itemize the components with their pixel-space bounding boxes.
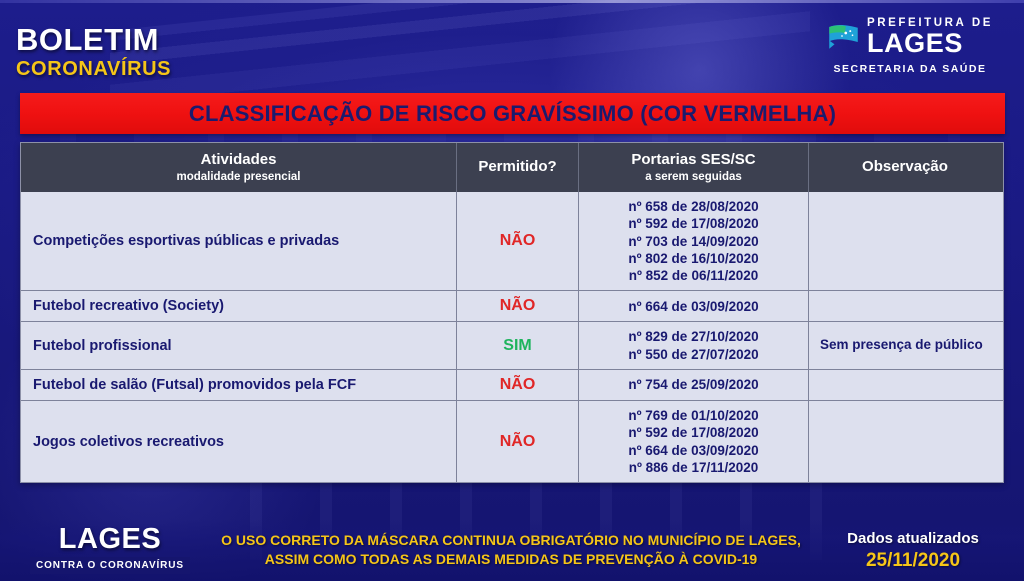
portaria-item: nº 592 de 17/08/2020 xyxy=(579,215,808,232)
atividade-label: Futebol de salão (Futsal) promovidos pel… xyxy=(21,377,456,393)
table-row: Futebol profissionalSIMnº 829 de 27/10/2… xyxy=(21,321,1003,369)
cell-portarias: nº 658 de 28/08/2020nº 592 de 17/08/2020… xyxy=(579,192,809,290)
cell-portarias: nº 829 de 27/10/2020nº 550 de 27/07/2020 xyxy=(579,322,809,369)
cell-portarias: nº 769 de 01/10/2020nº 592 de 17/08/2020… xyxy=(579,401,809,482)
portaria-item: nº 802 de 16/10/2020 xyxy=(579,250,808,267)
atividade-label: Jogos coletivos recreativos xyxy=(21,434,456,450)
cell-atividade: Competições esportivas públicas e privad… xyxy=(21,192,457,290)
logo-line-secretaria: SECRETARIA DA SAÚDE xyxy=(810,63,1010,75)
column-header-observacao-main: Observação xyxy=(813,159,997,176)
portaria-item: nº 829 de 27/10/2020 xyxy=(579,328,808,345)
portarias-list: nº 769 de 01/10/2020nº 592 de 17/08/2020… xyxy=(579,407,808,476)
cell-atividade: Futebol de salão (Futsal) promovidos pel… xyxy=(21,370,457,400)
table-row: Futebol de salão (Futsal) promovidos pel… xyxy=(21,369,1003,400)
portaria-item: nº 664 de 03/09/2020 xyxy=(579,298,808,315)
page-title: BOLETIM xyxy=(16,24,171,55)
permitido-value: NÃO xyxy=(457,433,578,451)
banner-title: CLASSIFICAÇÃO DE RISCO GRAVÍSSIMO (COR V… xyxy=(189,101,836,127)
table-row: Competições esportivas públicas e privad… xyxy=(21,192,1003,290)
portarias-list: nº 754 de 25/09/2020 xyxy=(579,376,808,393)
risk-classification-banner: CLASSIFICAÇÃO DE RISCO GRAVÍSSIMO (COR V… xyxy=(20,93,1005,134)
page-subtitle: CORONAVÍRUS xyxy=(16,59,171,79)
bulletin-title-block: BOLETIM CORONAVÍRUS xyxy=(16,24,171,79)
table-body: Competições esportivas públicas e privad… xyxy=(21,192,1003,482)
column-header-portarias-main: Portarias SES/SC xyxy=(583,152,804,169)
cell-atividade: Futebol recreativo (Society) xyxy=(21,291,457,321)
column-header-permitido-main: Permitido? xyxy=(461,159,574,176)
cell-permitido: NÃO xyxy=(457,192,579,290)
cell-portarias: nº 664 de 03/09/2020 xyxy=(579,291,809,321)
cell-observacao xyxy=(809,370,1001,400)
footer-brand: LAGES CONTRA O CORONAVÍRUS xyxy=(30,525,190,574)
column-header-permitido: Permitido? xyxy=(457,143,579,192)
page-footer: LAGES CONTRA O CORONAVÍRUS O USO CORRETO… xyxy=(0,519,1024,581)
portaria-item: nº 658 de 28/08/2020 xyxy=(579,198,808,215)
table-header-row: Atividades modalidade presencial Permiti… xyxy=(21,143,1003,192)
column-header-portarias-sub: a serem seguidas xyxy=(583,171,804,184)
footer-message-line-1: O USO CORRETO DA MÁSCARA CONTINUA OBRIGA… xyxy=(186,531,836,550)
footer-brand-main: LAGES xyxy=(30,525,190,554)
cell-portarias: nº 754 de 25/09/2020 xyxy=(579,370,809,400)
column-header-portarias: Portarias SES/SC a serem seguidas xyxy=(579,143,809,192)
footer-updated-label: Dados atualizados xyxy=(818,531,1008,548)
atividade-label: Futebol profissional xyxy=(21,338,456,354)
portaria-item: nº 769 de 01/10/2020 xyxy=(579,407,808,424)
permitido-value: NÃO xyxy=(457,297,578,315)
cell-observacao xyxy=(809,192,1001,290)
atividade-label: Futebol recreativo (Society) xyxy=(21,298,456,314)
portarias-list: nº 658 de 28/08/2020nº 592 de 17/08/2020… xyxy=(579,198,808,284)
atividade-label: Competições esportivas públicas e privad… xyxy=(21,233,456,249)
table-row: Futebol recreativo (Society)NÃOnº 664 de… xyxy=(21,290,1003,321)
portaria-item: nº 754 de 25/09/2020 xyxy=(579,376,808,393)
portarias-list: nº 664 de 03/09/2020 xyxy=(579,298,808,315)
cell-permitido: NÃO xyxy=(457,291,579,321)
footer-mask-message: O USO CORRETO DA MÁSCARA CONTINUA OBRIGA… xyxy=(186,531,836,569)
portaria-item: nº 664 de 03/09/2020 xyxy=(579,442,808,459)
column-header-observacao: Observação xyxy=(809,143,1001,192)
activities-table: Atividades modalidade presencial Permiti… xyxy=(20,142,1004,483)
logo-line-lages: LAGES xyxy=(867,31,963,57)
column-header-atividades: Atividades modalidade presencial xyxy=(21,143,457,192)
permitido-value: NÃO xyxy=(457,376,578,394)
cell-permitido: SIM xyxy=(457,322,579,369)
footer-message-line-2: ASSIM COMO TODAS AS DEMAIS MEDIDAS DE PR… xyxy=(186,550,836,569)
footer-updated-date: 25/11/2020 xyxy=(818,551,1008,572)
page-header: BOLETIM CORONAVÍRUS PREFEITURA DE LAGES xyxy=(0,0,1024,92)
portaria-item: nº 592 de 17/08/2020 xyxy=(579,424,808,441)
permitido-value: NÃO xyxy=(457,232,578,250)
portarias-list: nº 829 de 27/10/2020nº 550 de 27/07/2020 xyxy=(579,328,808,363)
cell-observacao: Sem presença de público xyxy=(809,322,1001,369)
lages-flag-icon xyxy=(827,24,860,51)
cell-permitido: NÃO xyxy=(457,370,579,400)
portaria-item: nº 550 de 27/07/2020 xyxy=(579,346,808,363)
observacao-label: Sem presença de público xyxy=(809,337,1001,354)
footer-brand-sub: CONTRA O CORONAVÍRUS xyxy=(30,557,190,574)
prefeitura-logo: PREFEITURA DE LAGES SECRETARIA DA SAÚDE xyxy=(810,18,1010,75)
column-header-atividades-main: Atividades xyxy=(25,152,452,169)
cell-atividade: Jogos coletivos recreativos xyxy=(21,401,457,482)
cell-permitido: NÃO xyxy=(457,401,579,482)
table-row: Jogos coletivos recreativosNÃOnº 769 de … xyxy=(21,400,1003,482)
portaria-item: nº 886 de 17/11/2020 xyxy=(579,459,808,476)
cell-observacao xyxy=(809,291,1001,321)
column-header-atividades-sub: modalidade presencial xyxy=(25,171,452,184)
footer-updated-block: Dados atualizados 25/11/2020 xyxy=(818,531,1008,571)
permitido-value: SIM xyxy=(457,337,578,355)
portaria-item: nº 852 de 06/11/2020 xyxy=(579,267,808,284)
cell-observacao xyxy=(809,401,1001,482)
cell-atividade: Futebol profissional xyxy=(21,322,457,369)
portaria-item: nº 703 de 14/09/2020 xyxy=(579,233,808,250)
